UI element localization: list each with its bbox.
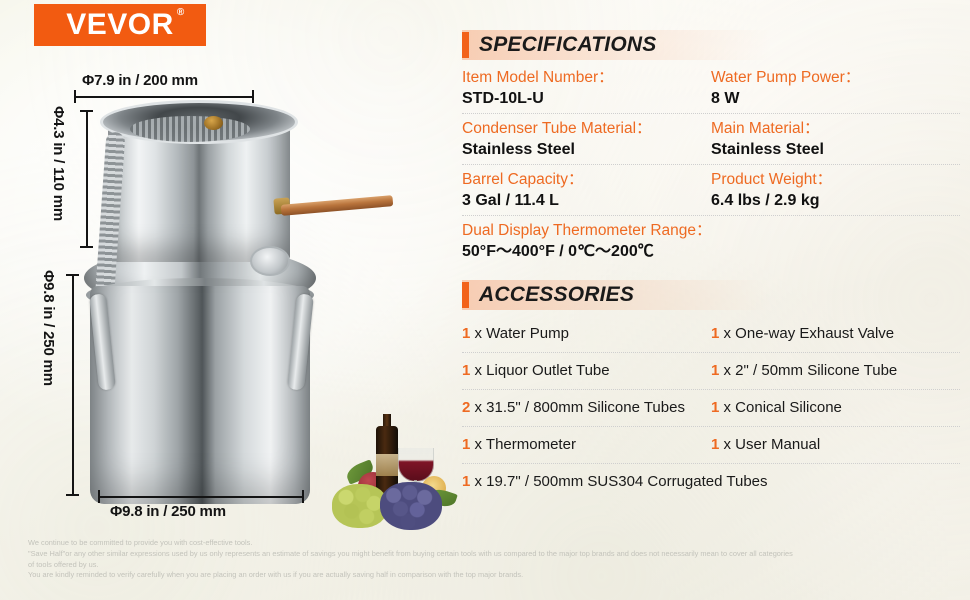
accessory-item: 1 x Water Pump	[462, 316, 711, 352]
disclaimer-line-2: "Save Half"or any other similar expressi…	[28, 549, 958, 560]
spec-cell: Condenser Tube Material： Stainless Steel	[462, 119, 711, 160]
dimension-cap	[302, 490, 304, 503]
accessory-item: 1 x 19.7" / 500mm SUS304 Corrugated Tube…	[462, 464, 960, 500]
spec-cell: Barrel Capacity： 3 Gal / 11.4 L	[462, 170, 711, 211]
registered-mark-icon: ®	[177, 8, 185, 18]
info-panel: SPECIFICATIONS Item Model Number： STD-10…	[462, 30, 962, 500]
dimension-barrel-height-label: Φ9.8 in / 250 mm	[40, 270, 57, 386]
spec-value: Stainless Steel	[462, 139, 705, 160]
dimension-barrel-height-line	[72, 274, 74, 496]
accessory-label: x Conical Silicone	[724, 399, 842, 416]
accessory-qty: 1	[462, 325, 470, 342]
dimension-barrel-diameter-label: Φ9.8 in / 250 mm	[110, 503, 226, 520]
table-row: Barrel Capacity： 3 Gal / 11.4 L Product …	[462, 164, 960, 215]
spec-key: Item Model Number：	[462, 68, 705, 88]
accessory-item: 1 x Conical Silicone	[711, 390, 960, 426]
accessory-label: x 31.5" / 800mm Silicone Tubes	[475, 399, 685, 416]
dimension-cap	[252, 90, 254, 103]
spec-key: Dual Display Thermometer Range：	[462, 221, 954, 241]
table-row: 2 x 31.5" / 800mm Silicone Tubes 1 x Con…	[462, 389, 960, 426]
accessory-qty: 1	[462, 362, 470, 379]
accessory-label: x User Manual	[724, 436, 821, 453]
spec-key: Product Weight：	[711, 170, 954, 190]
dimension-cap	[66, 494, 79, 496]
specifications-table: Item Model Number： STD-10L-U Water Pump …	[462, 66, 960, 266]
section-accent-bar	[462, 32, 469, 58]
dimension-cap	[80, 110, 93, 112]
accessory-item: 2 x 31.5" / 800mm Silicone Tubes	[462, 390, 711, 426]
spec-cell: Dual Display Thermometer Range： 50°F〜400…	[462, 221, 960, 262]
disclaimer-line-4: You are kindly reminded to verify carefu…	[28, 570, 958, 581]
dimension-cap	[80, 246, 93, 248]
spec-key: Main Material：	[711, 119, 954, 139]
accessory-qty: 1	[711, 362, 719, 379]
accessory-label: x 19.7" / 500mm SUS304 Corrugated Tubes	[475, 473, 768, 490]
spec-cell: Product Weight： 6.4 lbs / 2.9 kg	[711, 170, 960, 211]
accessory-qty: 1	[711, 325, 719, 342]
table-row: Condenser Tube Material： Stainless Steel…	[462, 113, 960, 164]
main-barrel	[90, 286, 310, 504]
disclaimer-text: We continue to be committed to provide y…	[28, 538, 958, 581]
table-row: Item Model Number： STD-10L-U Water Pump …	[462, 66, 960, 113]
dimension-top-height-label: Φ4.3 in / 110 mm	[50, 106, 67, 221]
dimension-cap	[74, 90, 76, 103]
specifications-header: SPECIFICATIONS	[462, 30, 962, 60]
dimension-top-height-line	[86, 110, 88, 248]
accessory-label: x One-way Exhaust Valve	[724, 325, 895, 342]
vevor-logo: VEVOR®	[34, 4, 206, 46]
accessory-label: x Thermometer	[475, 436, 576, 453]
spec-value: Stainless Steel	[711, 139, 954, 160]
spec-cell: Main Material： Stainless Steel	[711, 119, 960, 160]
brass-knob	[204, 116, 223, 130]
spec-key: Barrel Capacity：	[462, 170, 705, 190]
dimension-barrel-diameter-line	[98, 496, 304, 498]
accessory-item: 1 x Liquor Outlet Tube	[462, 353, 711, 389]
accessory-item: 1 x Thermometer	[462, 427, 711, 463]
wine-and-fruit-decoration	[330, 420, 462, 538]
accessory-qty: 1	[711, 436, 719, 453]
dimension-cap	[66, 274, 79, 276]
accessory-qty: 1	[462, 473, 470, 490]
accessory-label: x Liquor Outlet Tube	[475, 362, 610, 379]
purple-grapes-icon	[380, 482, 442, 530]
accessory-qty: 2	[462, 399, 470, 416]
accessory-qty: 1	[711, 399, 719, 416]
dimension-cap	[98, 490, 100, 503]
table-row: 1 x Thermometer 1 x User Manual	[462, 426, 960, 463]
copper-outlet-tube	[281, 195, 394, 216]
accessory-item: 1 x 2" / 50mm Silicone Tube	[711, 353, 960, 389]
dimension-top-diameter-line	[74, 96, 254, 98]
wine-bottle-label	[376, 454, 398, 476]
thermometer-gauge	[250, 246, 290, 276]
table-row: 1 x 19.7" / 500mm SUS304 Corrugated Tube…	[462, 463, 960, 500]
condenser-coil	[130, 116, 250, 142]
disclaimer-line-1: We continue to be committed to provide y…	[28, 538, 958, 549]
brand-wordmark: VEVOR®	[66, 10, 174, 40]
accessory-item: 1 x User Manual	[711, 427, 960, 463]
table-row: 1 x Water Pump 1 x One-way Exhaust Valve	[462, 316, 960, 352]
spec-value: STD-10L-U	[462, 88, 705, 109]
spec-cell: Item Model Number： STD-10L-U	[462, 68, 711, 109]
disclaimer-line-3: of tools offered by us.	[28, 560, 958, 571]
accessory-label: x Water Pump	[475, 325, 569, 342]
accessory-qty: 1	[462, 436, 470, 453]
accessories-table: 1 x Water Pump 1 x One-way Exhaust Valve…	[462, 316, 960, 500]
specifications-title: SPECIFICATIONS	[479, 33, 656, 57]
table-row: 1 x Liquor Outlet Tube 1 x 2" / 50mm Sil…	[462, 352, 960, 389]
accessory-label: x 2" / 50mm Silicone Tube	[724, 362, 898, 379]
spec-cell: Water Pump Power： 8 W	[711, 68, 960, 109]
accessories-title: ACCESSORIES	[479, 283, 634, 307]
dimension-top-diameter-label: Φ7.9 in / 200 mm	[82, 72, 198, 89]
accessory-item: 1 x One-way Exhaust Valve	[711, 316, 960, 352]
distiller-product-illustration	[78, 88, 328, 528]
spec-value: 50°F〜400°F / 0℃〜200℃	[462, 241, 954, 262]
spec-value: 8 W	[711, 88, 954, 109]
accessories-header: ACCESSORIES	[462, 280, 962, 310]
section-accent-bar	[462, 282, 469, 308]
spec-key: Condenser Tube Material：	[462, 119, 705, 139]
spec-value: 6.4 lbs / 2.9 kg	[711, 190, 954, 211]
spec-value: 3 Gal / 11.4 L	[462, 190, 705, 211]
spec-key: Water Pump Power：	[711, 68, 954, 88]
product-image-panel: Φ7.9 in / 200 mm Φ4.3 in / 110 mm Φ9.8 i…	[0, 48, 460, 528]
table-row: Dual Display Thermometer Range： 50°F〜400…	[462, 215, 960, 266]
